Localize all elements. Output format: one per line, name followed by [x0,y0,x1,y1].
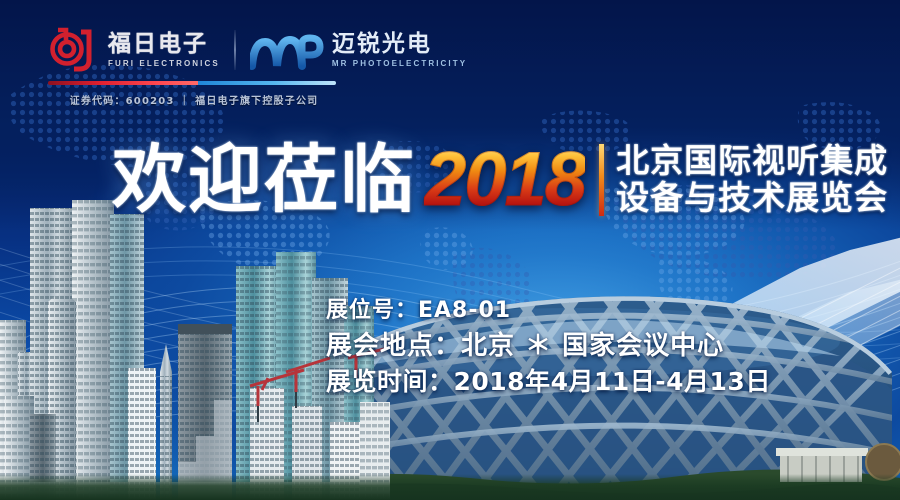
logo-row: 福日电子 FURI ELECTRONICS 迈锐光电 [48,22,467,78]
exhibition-banner: 福日电子 FURI ELECTRONICS 迈锐光电 [0,0,900,500]
header-bar: 福日电子 FURI ELECTRONICS 迈锐光电 [0,0,900,118]
header-rule-red [48,81,198,85]
booth-number: 展位号：EA8-01 [326,296,771,326]
exhibition-name-line1: 北京国际视听集成 [616,143,888,180]
year-2018: 2018 [424,142,585,218]
mr-en-name: MR PHOTOELECTRICITY [332,59,467,68]
welcome-title: 欢迎莅临 [112,143,416,217]
mr-monogram-icon [250,28,324,72]
furi-en-name: FURI ELECTRONICS [108,59,220,68]
furi-monogram-icon [48,26,100,74]
header-rule [48,81,336,85]
furi-logo-text: 福日电子 FURI ELECTRONICS [108,32,220,68]
security-code-line: 证券代码：600203 ｜ 福日电子旗下控股子公司 [48,92,340,107]
logo-mr-photoelectricity: 迈锐光电 MR PHOTOELECTRICITY [250,28,467,72]
header-rule-blue [198,81,336,85]
mr-logo-text: 迈锐光电 MR PHOTOELECTRICITY [332,32,467,68]
venue-line: 展会地点：北京 ＊ 国家会议中心 [326,329,771,364]
mr-cn-name: 迈锐光电 [332,32,467,56]
event-info-block: 展位号：EA8-01 展会地点：北京 ＊ 国家会议中心 展览时间：2018年4月… [326,296,771,399]
title-divider [599,144,604,216]
logo-divider [234,30,236,70]
dates-line: 展览时间：2018年4月11日-4月13日 [326,365,771,399]
title-row: 欢迎莅临 2018 北京国际视听集成 设备与技术展览会 [112,142,888,218]
furi-cn-name: 福日电子 [108,32,220,56]
ground-strip [0,474,900,500]
exhibition-name: 北京国际视听集成 设备与技术展览会 [616,143,888,217]
exhibition-name-line2: 设备与技术展览会 [616,180,888,217]
logo-furi-electronics: 福日电子 FURI ELECTRONICS [48,26,220,74]
